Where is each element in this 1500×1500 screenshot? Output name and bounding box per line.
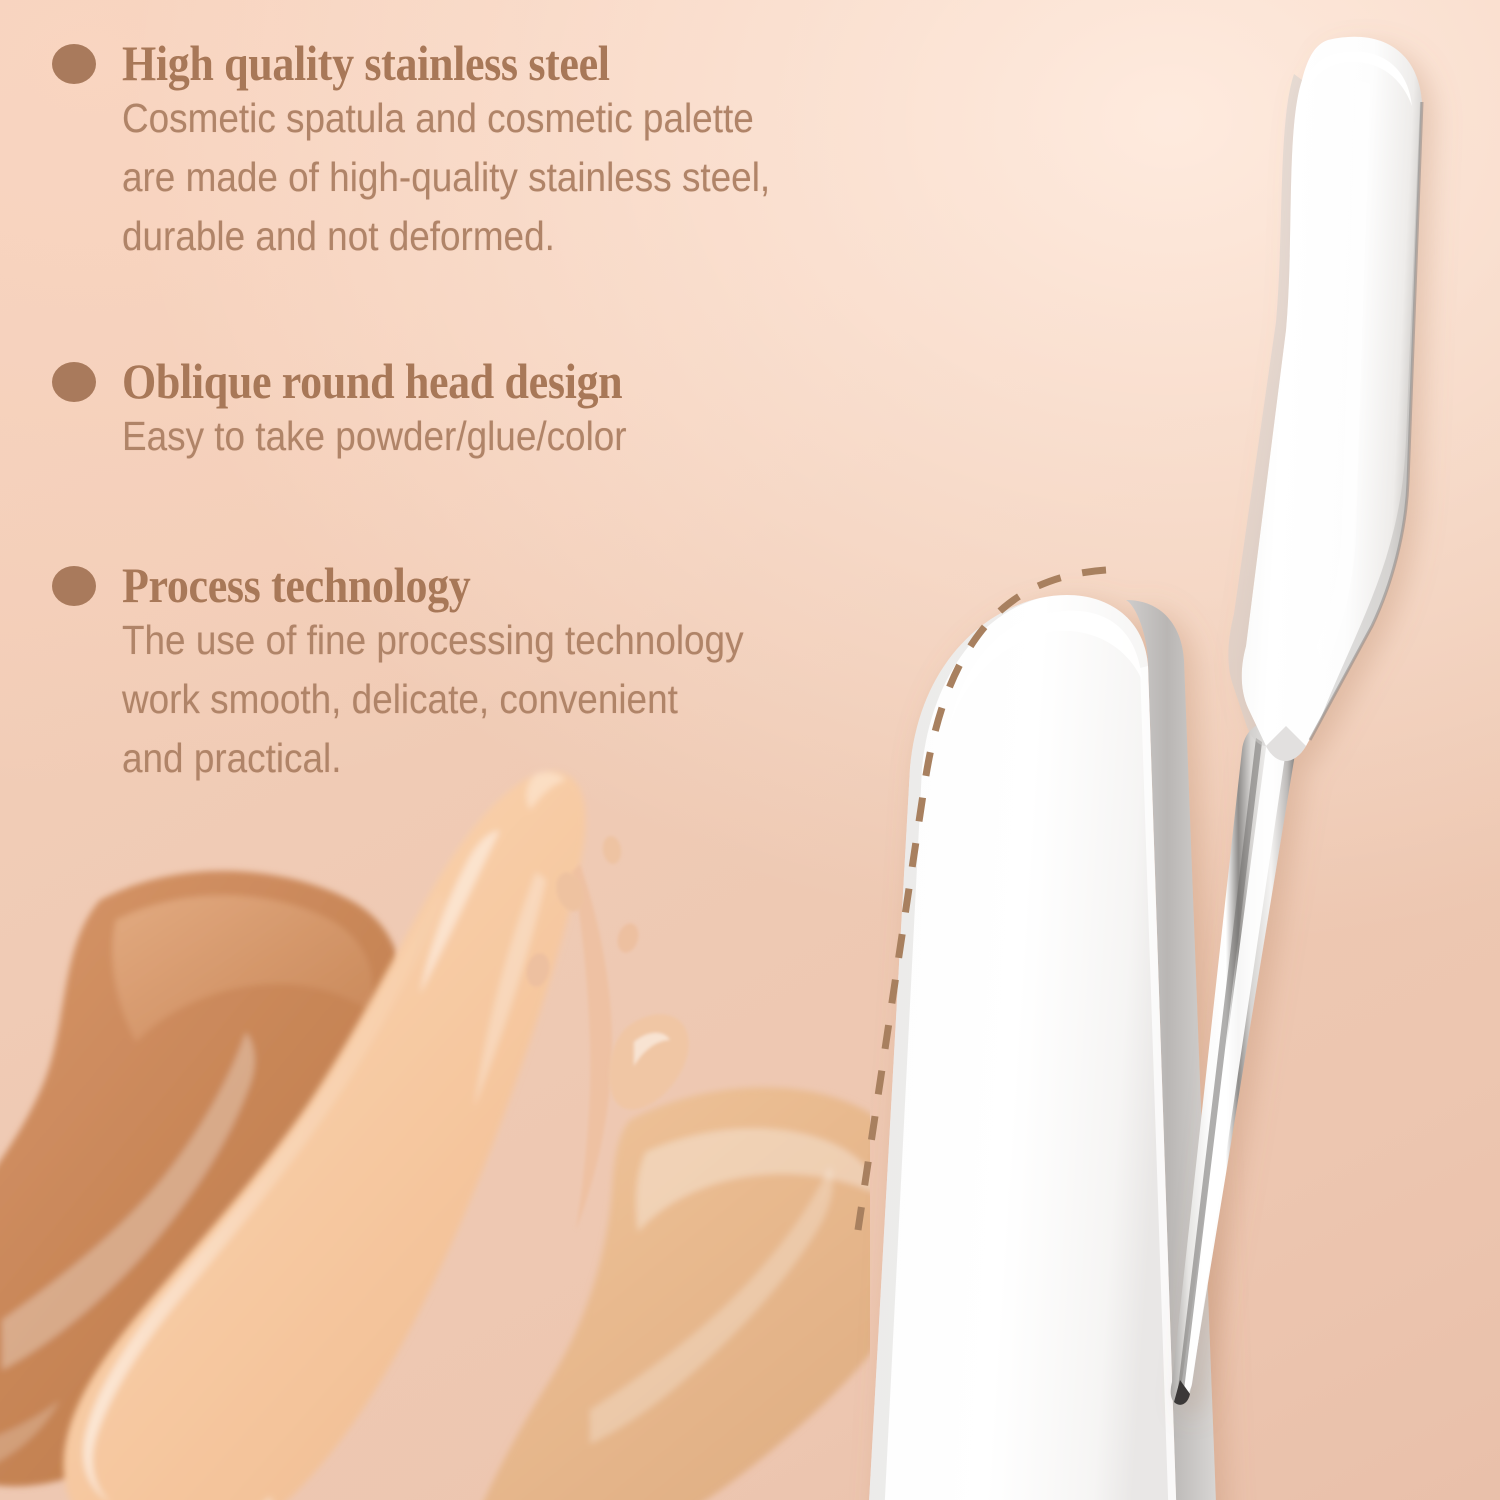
bullet-dot-icon bbox=[52, 566, 96, 606]
foundation-swatch-light bbox=[460, 1087, 870, 1500]
feature-heading-2: Oblique round head design bbox=[122, 356, 622, 407]
feature-body-3: The use of fine processing technology wo… bbox=[122, 611, 744, 788]
feature-heading-row-2: Oblique round head design bbox=[52, 356, 690, 407]
feature-body-1: Cosmetic spatula and cosmetic palette ar… bbox=[122, 89, 770, 266]
feature-item-3: Process technology The use of fine proce… bbox=[52, 560, 813, 788]
feature-body-2: Easy to take powder/glue/color bbox=[122, 407, 634, 466]
feature-heading-1: High quality stainless steel bbox=[122, 38, 610, 89]
foundation-swatch-cluster bbox=[0, 760, 870, 1500]
bullet-dot-icon bbox=[52, 362, 96, 402]
feature-item-2: Oblique round head design Easy to take p… bbox=[52, 356, 690, 466]
feature-item-1: High quality stainless steel Cosmetic sp… bbox=[52, 38, 842, 266]
foundation-runoff bbox=[572, 864, 612, 1230]
feature-heading-3: Process technology bbox=[122, 560, 470, 611]
product-feature-graphic: High quality stainless steel Cosmetic sp… bbox=[0, 0, 1500, 1500]
cosmetic-spatula bbox=[1080, 10, 1500, 1440]
bullet-dot-icon bbox=[52, 44, 96, 84]
feature-heading-row-3: Process technology bbox=[52, 560, 813, 611]
feature-heading-row-1: High quality stainless steel bbox=[52, 38, 842, 89]
